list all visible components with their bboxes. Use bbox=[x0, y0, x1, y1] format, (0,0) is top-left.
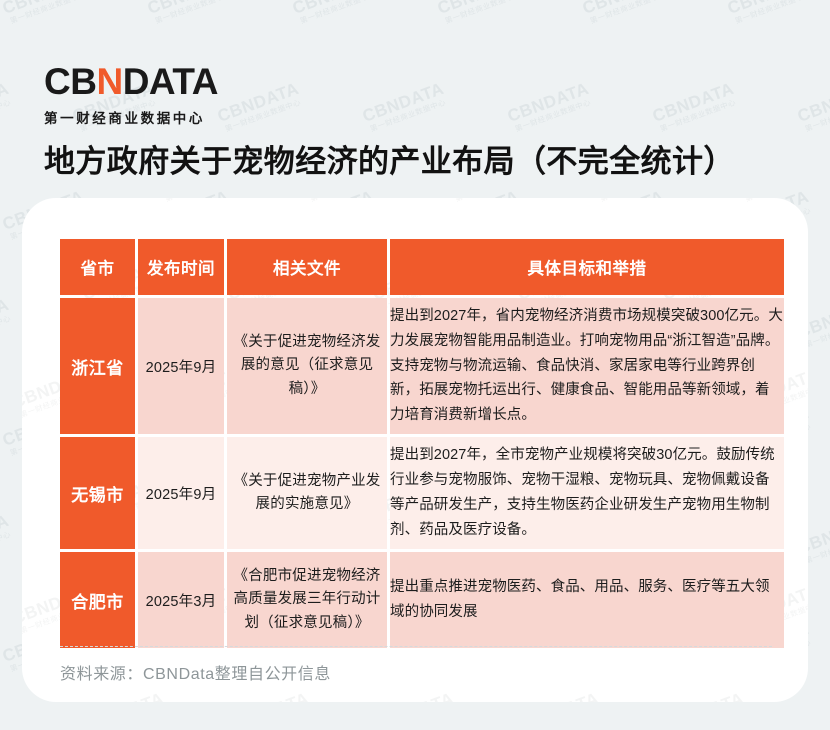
cbndata-logo: CBNDATA 第一财经商业数据中心 bbox=[44, 63, 218, 127]
content-card: CBNDATA第一财经商业数据中心CBNDATA第一财经商业数据中心CBNDAT… bbox=[22, 198, 808, 702]
watermark-tile: CBNDATA第一财经商业数据中心 bbox=[22, 198, 100, 204]
watermark-tile: CBNDATA第一财经商业数据中心 bbox=[735, 198, 808, 204]
logo-wordmark-accent-n: N bbox=[96, 63, 122, 100]
watermark-tile: CBNDATA第一财经商业数据中心 bbox=[370, 689, 460, 702]
watermark-tile: CBNDATA第一财经商业数据中心 bbox=[22, 257, 25, 313]
watermark-tile: CBNDATA第一财经商业数据中心 bbox=[660, 689, 750, 702]
watermark-tile: CBNDATA第一财经商业数据中心 bbox=[300, 198, 390, 204]
table-header-row: 省市 发布时间 相关文件 具体目标和举措 bbox=[60, 239, 784, 295]
logo-wordmark-part2: DATA bbox=[123, 63, 218, 100]
cell-detail: 提出重点推进宠物医药、食品、用品、服务、医疗等五大领域的协同发展 bbox=[390, 552, 784, 648]
column-header-region: 省市 bbox=[60, 239, 135, 295]
watermark-tile: CBNDATA第一财经商业数据中心 bbox=[515, 689, 605, 702]
watermark-tile: CBNDATA第一财经商业数据中心 bbox=[445, 198, 535, 204]
table-row: 无锡市2025年9月《关于促进宠物产业发展的实施意见》提出到2027年，全市宠物… bbox=[60, 437, 784, 549]
cell-date: 2025年3月 bbox=[138, 552, 224, 648]
table-row: 合肥市2025年3月《合肥市促进宠物经济高质量发展三年行动计划（征求意见稿）》提… bbox=[60, 552, 784, 648]
cell-region: 浙江省 bbox=[60, 298, 135, 434]
policy-table: 省市 发布时间 相关文件 具体目标和举措 浙江省2025年9月《关于促进宠物经济… bbox=[57, 236, 787, 651]
table-row: 浙江省2025年9月《关于促进宠物经济发展的意见（征求意见稿）》提出到2027年… bbox=[60, 298, 784, 434]
logo-wordmark: CBNDATA bbox=[44, 63, 218, 100]
cell-date: 2025年9月 bbox=[138, 298, 224, 434]
cell-region: 无锡市 bbox=[60, 437, 135, 549]
page-title: 地方政府关于宠物经济的产业布局（不完全统计） bbox=[44, 136, 735, 181]
watermark-tile: CBNDATA第一财经商业数据中心 bbox=[590, 198, 680, 204]
cell-document: 《关于促进宠物产业发展的实施意见》 bbox=[227, 437, 387, 549]
column-header-date: 发布时间 bbox=[138, 239, 224, 295]
watermark-tile: CBNDATA第一财经商业数据中心 bbox=[805, 689, 808, 702]
logo-wordmark-part1: CB bbox=[44, 63, 96, 100]
cell-document: 《关于促进宠物经济发展的意见（征求意见稿）》 bbox=[227, 298, 387, 434]
watermark-tile: CBNDATA第一财经商业数据中心 bbox=[225, 689, 315, 702]
watermark-tile: CBNDATA第一财经商业数据中心 bbox=[80, 689, 170, 702]
watermark-tile: CBNDATA第一财经商业数据中心 bbox=[155, 198, 245, 204]
source-note: 资料来源：CBNData整理自公开信息 bbox=[60, 660, 331, 684]
column-header-detail: 具体目标和举措 bbox=[390, 239, 784, 295]
table-body: 浙江省2025年9月《关于促进宠物经济发展的意见（征求意见稿）》提出到2027年… bbox=[60, 298, 784, 648]
table-header: 省市 发布时间 相关文件 具体目标和举措 bbox=[60, 239, 784, 295]
watermark-tile: CBNDATA第一财经商业数据中心 bbox=[805, 473, 808, 529]
watermark-tile: CBNDATA第一财经商业数据中心 bbox=[22, 689, 25, 702]
infographic-page: CBNDATA 第一财经商业数据中心 地方政府关于宠物经济的产业布局（不完全统计… bbox=[0, 0, 830, 730]
cell-document: 《合肥市促进宠物经济高质量发展三年行动计划（征求意见稿）》 bbox=[227, 552, 387, 648]
watermark-tile: CBNDATA第一财经商业数据中心 bbox=[22, 473, 25, 529]
column-header-document: 相关文件 bbox=[227, 239, 387, 295]
cell-region: 合肥市 bbox=[60, 552, 135, 648]
watermark-tile: CBNDATA第一财经商业数据中心 bbox=[805, 257, 808, 313]
logo-subtitle: 第一财经商业数据中心 bbox=[44, 107, 218, 127]
source-divider bbox=[60, 646, 772, 647]
cell-detail: 提出到2027年，省内宠物经济消费市场规模突破300亿元。大力发展宠物智能用品制… bbox=[390, 298, 784, 434]
cell-detail: 提出到2027年，全市宠物产业规模将突破30亿元。鼓励传统行业参与宠物服饰、宠物… bbox=[390, 437, 784, 549]
cell-date: 2025年9月 bbox=[138, 437, 224, 549]
